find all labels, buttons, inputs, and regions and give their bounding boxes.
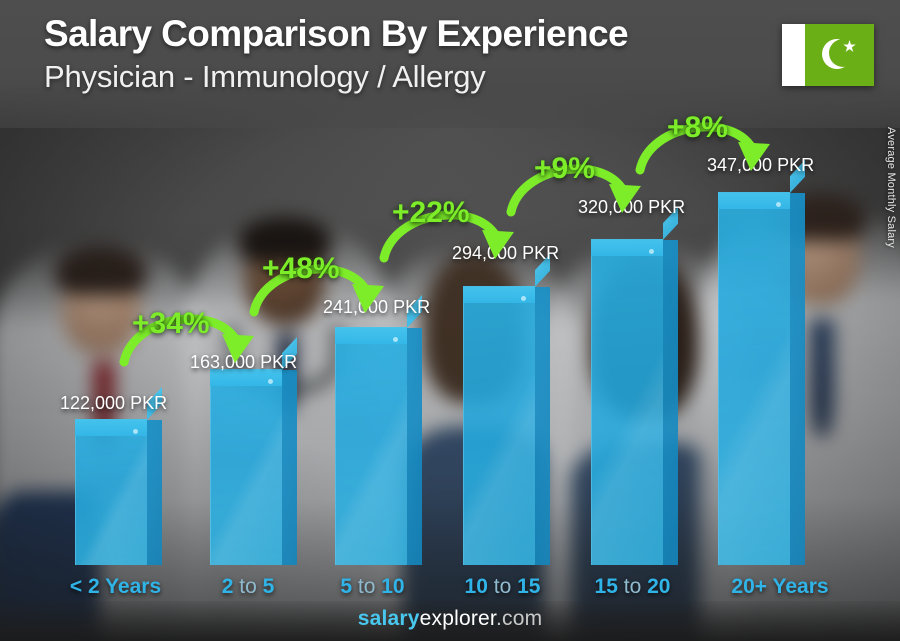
value-label-1: 122,000 PKR bbox=[60, 393, 167, 414]
watermark-explorer: explorer bbox=[420, 607, 496, 630]
bar-1-front bbox=[75, 420, 147, 565]
x-label-2-num1: 2 bbox=[222, 575, 240, 598]
pakistan-flag-icon bbox=[782, 24, 874, 86]
x-label-4-to: to bbox=[494, 575, 517, 598]
bar-3-front bbox=[335, 328, 407, 565]
x-label-5-to: to bbox=[624, 575, 647, 598]
x-label-3-num2: 10 bbox=[381, 575, 404, 598]
bar-6-highlight-dot bbox=[776, 202, 781, 207]
x-label-6-text: 20+ Years bbox=[731, 575, 828, 598]
x-label-1[interactable]: < 2 Years bbox=[48, 575, 183, 599]
bar-6-side bbox=[790, 193, 805, 565]
bar-3[interactable] bbox=[335, 328, 407, 565]
growth-label-5: +8% bbox=[667, 111, 728, 145]
x-label-5-num1: 15 bbox=[595, 575, 624, 598]
page-title: Salary Comparison By Experience bbox=[44, 14, 628, 54]
x-label-4-num1: 10 bbox=[465, 575, 494, 598]
flag-crescent-cut bbox=[829, 39, 857, 67]
growth-label-2: +48% bbox=[262, 252, 340, 286]
x-label-5-num2: 20 bbox=[647, 575, 670, 598]
x-label-4[interactable]: 10 to 15 bbox=[435, 575, 570, 599]
bar-1[interactable] bbox=[75, 420, 147, 565]
bar-1-side bbox=[147, 420, 162, 565]
watermark-tld: .com bbox=[496, 607, 542, 630]
page-subtitle: Physician - Immunology / Allergy bbox=[44, 58, 628, 96]
bar-4-side bbox=[535, 287, 550, 565]
x-label-1-text: < 2 Years bbox=[70, 575, 161, 598]
bar-2-side bbox=[282, 370, 297, 565]
x-label-3-num1: 5 bbox=[340, 575, 358, 598]
x-label-5[interactable]: 15 to 20 bbox=[565, 575, 700, 599]
flag-white-stripe bbox=[782, 24, 805, 86]
x-label-3[interactable]: 5 to 10 bbox=[310, 575, 435, 599]
bar-5-side bbox=[663, 240, 678, 565]
y-axis-caption: Average Monthly Salary bbox=[885, 127, 897, 248]
site-watermark[interactable]: salaryexplorer.com bbox=[0, 607, 900, 631]
bar-4-front bbox=[463, 287, 535, 565]
bar-1-highlight-dot bbox=[133, 429, 138, 434]
growth-label-3: +22% bbox=[392, 196, 470, 230]
bar-5-highlight-dot bbox=[649, 249, 654, 254]
bar-3-side bbox=[407, 328, 422, 565]
bars-container: 122,000 PKR 163,000 PKR 241,000 PKR 294,… bbox=[0, 0, 900, 641]
x-label-4-num2: 15 bbox=[517, 575, 540, 598]
x-label-2-to: to bbox=[239, 575, 262, 598]
header: Salary Comparison By Experience Physicia… bbox=[44, 14, 628, 96]
bar-4-highlight-dot bbox=[521, 296, 526, 301]
bar-4[interactable] bbox=[463, 287, 535, 565]
watermark-salary: salary bbox=[358, 607, 420, 630]
bar-5[interactable] bbox=[591, 240, 663, 565]
x-label-2[interactable]: 2 to 5 bbox=[188, 575, 308, 599]
bar-5-front bbox=[591, 240, 663, 565]
x-label-6[interactable]: 20+ Years bbox=[700, 575, 860, 599]
bar-2[interactable] bbox=[210, 370, 282, 565]
x-label-3-to: to bbox=[358, 575, 381, 598]
bar-2-front bbox=[210, 370, 282, 565]
bar-6-front bbox=[718, 193, 790, 565]
bar-2-highlight-dot bbox=[268, 379, 273, 384]
bar-6[interactable] bbox=[718, 193, 790, 565]
chart-canvas: Salary Comparison By Experience Physicia… bbox=[0, 0, 900, 641]
bar-3-highlight-dot bbox=[393, 337, 398, 342]
growth-label-1: +34% bbox=[132, 307, 210, 341]
x-label-2-num2: 5 bbox=[263, 575, 275, 598]
growth-label-4: +9% bbox=[534, 152, 595, 186]
